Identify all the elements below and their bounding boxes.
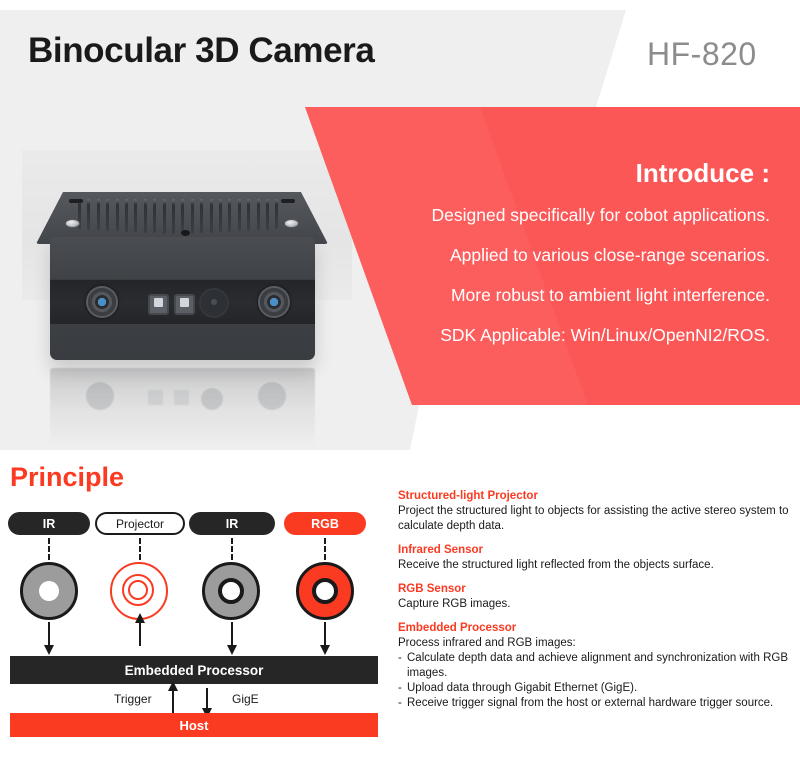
bullet-dash-icon: - [398,651,407,681]
gige-label: GigE [232,692,259,706]
heatsink-fin [191,199,194,234]
info-bullet-text: Receive trigger signal from the host or … [407,696,773,711]
info-bullet-text: Upload data through Gigabit Ethernet (Gi… [407,681,637,696]
ir-lens-left-icon [86,286,118,318]
info-bullet: -Upload data through Gigabit Ethernet (G… [398,681,790,696]
heatsink-fin [200,199,203,233]
heatsink-fin [210,199,213,233]
heatsink-fin [228,199,231,232]
info-heading: RGB Sensor [398,582,790,596]
rgb-sensor-icon [296,562,354,620]
info-block: Embedded ProcessorProcess infrared and R… [398,621,790,711]
info-bullet: -Calculate depth data and achieve alignm… [398,651,790,681]
intro-line-4: SDK Applicable: Win/Linux/OpenNI2/ROS. [440,325,770,346]
heatsink-fin [106,199,109,231]
info-block: Structured-light ProjectorProject the st… [398,489,790,534]
mount-screw-right [284,219,299,228]
info-bullet-text: Calculate depth data and achieve alignme… [407,651,790,681]
heatsink-fin [125,199,128,232]
heatsink-fin [219,199,222,232]
product-image [36,192,326,447]
bullet-dash-icon: - [398,681,407,696]
heatsink-fin [116,199,119,231]
product-datasheet-page: Binocular 3D Camera HF-820 [0,0,800,767]
sensor-square-1-icon [148,294,169,315]
intro-line-1: Designed specifically for cobot applicat… [431,205,770,226]
heatsink-fin [238,199,241,231]
diagram-pill-ir-left: IR [8,512,90,535]
projector-knob-icon [201,290,227,316]
info-heading: Infrared Sensor [398,543,790,557]
heatsink-fin [181,199,184,234]
info-heading: Structured-light Projector [398,489,790,503]
heatsink-fin [257,199,260,230]
principle-descriptions: Structured-light ProjectorProject the st… [398,489,790,720]
heatsink-fin [97,199,100,230]
principle-heading: Principle [10,462,124,493]
heatsink-fin [275,199,278,229]
trigger-label: Trigger [114,692,152,706]
heatsink-fin [163,199,166,234]
info-block: RGB SensorCapture RGB images. [398,582,790,612]
vent-slot-left [69,199,83,203]
info-body: Capture RGB images. [398,597,790,612]
arrow-ir-left-to-processor [48,622,50,646]
ir-lens-right-icon [258,286,290,318]
info-bullet: -Receive trigger signal from the host or… [398,696,790,711]
heatsink-fin [172,199,175,234]
arrow-processor-to-projector [139,622,141,646]
heatsink-fin [87,199,90,230]
info-body: Receive the structured light reflected f… [398,558,790,573]
diagram-pill-ir-right: IR [189,512,275,535]
intro-line-2: Applied to various close-range scenarios… [450,245,770,266]
ir-sensor-left-icon [20,562,78,620]
intro-title: Introduce : [636,158,770,189]
heatsink-fin [247,199,250,231]
bullet-dash-icon: - [398,696,407,711]
dotted-connector-3 [231,538,233,560]
page-title: Binocular 3D Camera [28,31,374,71]
info-heading: Embedded Processor [398,621,790,635]
diagram-pill-projector: Projector [95,512,185,535]
pinhole [181,230,190,236]
mount-screw-left [65,219,80,228]
heatsink-fin [266,199,269,230]
info-block: Infrared SensorReceive the structured li… [398,543,790,573]
arrow-trigger-up [172,690,174,713]
heatsink-fin [134,199,137,232]
embedded-processor-bar: Embedded Processor [10,656,378,684]
sensor-square-2-icon [174,294,195,315]
projector-icon [110,562,168,620]
arrow-gige-down [206,688,208,709]
heatsink-fin [153,199,156,233]
host-bar: Host [10,713,378,737]
arrow-rgb-to-processor [324,622,326,646]
info-body: Project the structured light to objects … [398,504,790,534]
vent-slot-right [281,199,295,203]
heatsink-fin [144,199,147,233]
ir-sensor-right-icon [202,562,260,620]
diagram-pill-rgb: RGB [284,512,366,535]
arrow-ir-right-to-processor [231,622,233,646]
dotted-connector-4 [324,538,326,560]
camera-reflection [50,368,315,446]
intro-line-3: More robust to ambient light interferenc… [451,285,770,306]
hero-section: Binocular 3D Camera HF-820 [0,0,800,455]
model-number: HF-820 [647,36,757,73]
info-body: Process infrared and RGB images: [398,636,790,651]
dotted-connector-1 [48,538,50,560]
principle-diagram: IR Projector IR RGB Embedded Processor T… [0,500,392,740]
dotted-connector-2 [139,538,141,560]
